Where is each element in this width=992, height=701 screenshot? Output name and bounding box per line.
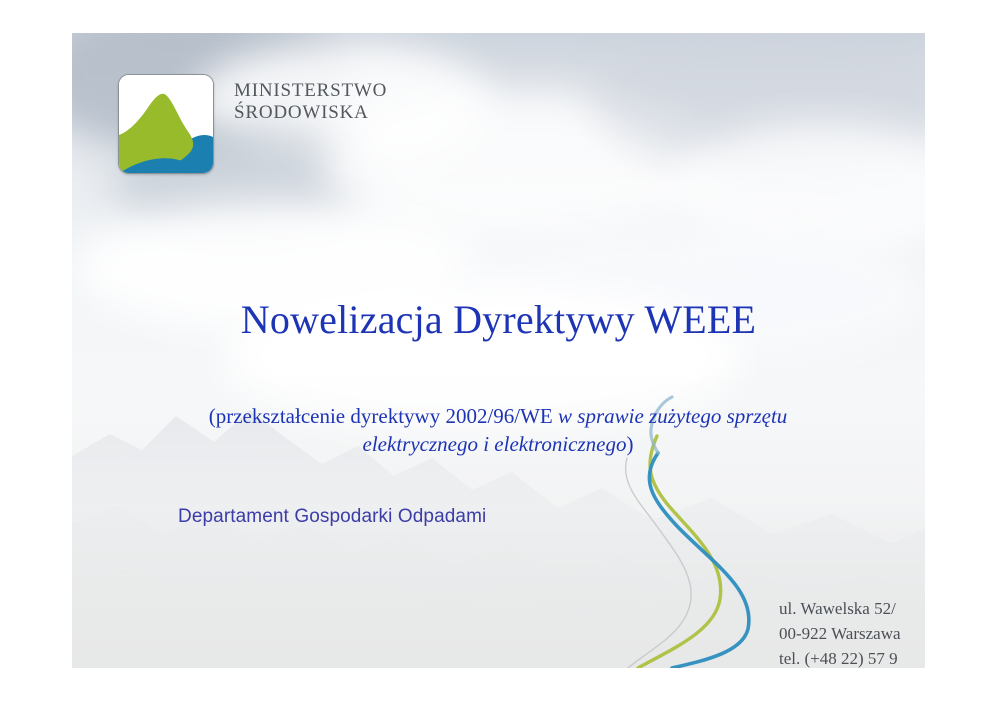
address-line-phone: tel. (+48 22) 57 9 [779,647,925,668]
subtitle-plain-suffix: ) [626,432,633,456]
ministry-logo-line1: MINISTERSTWO [234,80,387,102]
slide-title: Nowelizacja Dyrektywy WEEE [72,296,925,343]
contact-address: ul. Wawelska 52/ 00-922 Warszawa tel. (+… [779,597,925,668]
subtitle-plain-prefix: (przekształcenie dyrektywy 2002/96/WE [209,404,558,428]
ministry-logo-line2: ŚRODOWISKA [234,102,387,124]
slide-subtitle: (przekształcenie dyrektywy 2002/96/WE w … [168,403,828,459]
presentation-page: MINISTERSTWO ŚRODOWISKA Nowelizacja Dyre… [0,0,992,701]
address-line-street: ul. Wawelska 52/ [779,597,925,622]
department-label: Departament Gospodarki Odpadami [178,506,486,528]
presentation-slide: MINISTERSTWO ŚRODOWISKA Nowelizacja Dyre… [72,33,925,668]
blue-swoosh-curve [649,453,749,668]
ministry-environment-logo-icon [118,74,214,174]
address-line-city: 00-922 Warszawa [779,622,925,647]
ministry-logo-block: MINISTERSTWO ŚRODOWISKA [118,74,387,174]
ministry-logo-wordmark: MINISTERSTWO ŚRODOWISKA [234,80,387,125]
